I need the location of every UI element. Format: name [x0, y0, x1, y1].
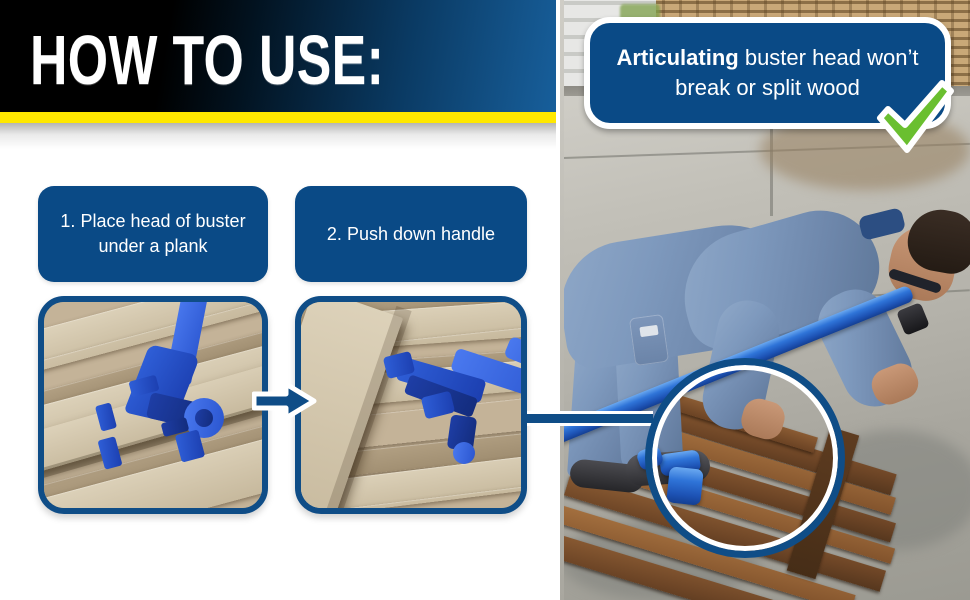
instructions-panel: HOW TO USE: 1. Place head of buster unde… — [0, 0, 558, 600]
callout-emphasis: Articulating — [616, 45, 738, 70]
step-caption-2: 2. Push down handle — [295, 186, 527, 282]
header-band: HOW TO USE: — [0, 0, 558, 112]
magnifier-circle-icon — [645, 358, 845, 558]
step-photo-1 — [38, 296, 268, 514]
step-number-1: 1. — [60, 211, 75, 231]
page-title: HOW TO USE: — [30, 18, 415, 102]
step-number-2: 2. — [327, 224, 342, 244]
panel-left-edge — [560, 0, 564, 600]
header-shadow — [0, 123, 558, 149]
magnifier-connector-line — [527, 411, 653, 426]
infographic-stage: HOW TO USE: 1. Place head of buster unde… — [0, 0, 970, 600]
step-caption-1: 1. Place head of buster under a plank — [38, 186, 268, 282]
step-text-2: Push down handle — [347, 224, 495, 244]
step-photo-2 — [295, 296, 527, 514]
arrow-right-icon — [252, 381, 318, 421]
step-text-1: Place head of buster under a plank — [80, 211, 245, 256]
green-check-icon — [872, 78, 958, 158]
yellow-accent-bar — [0, 112, 558, 123]
